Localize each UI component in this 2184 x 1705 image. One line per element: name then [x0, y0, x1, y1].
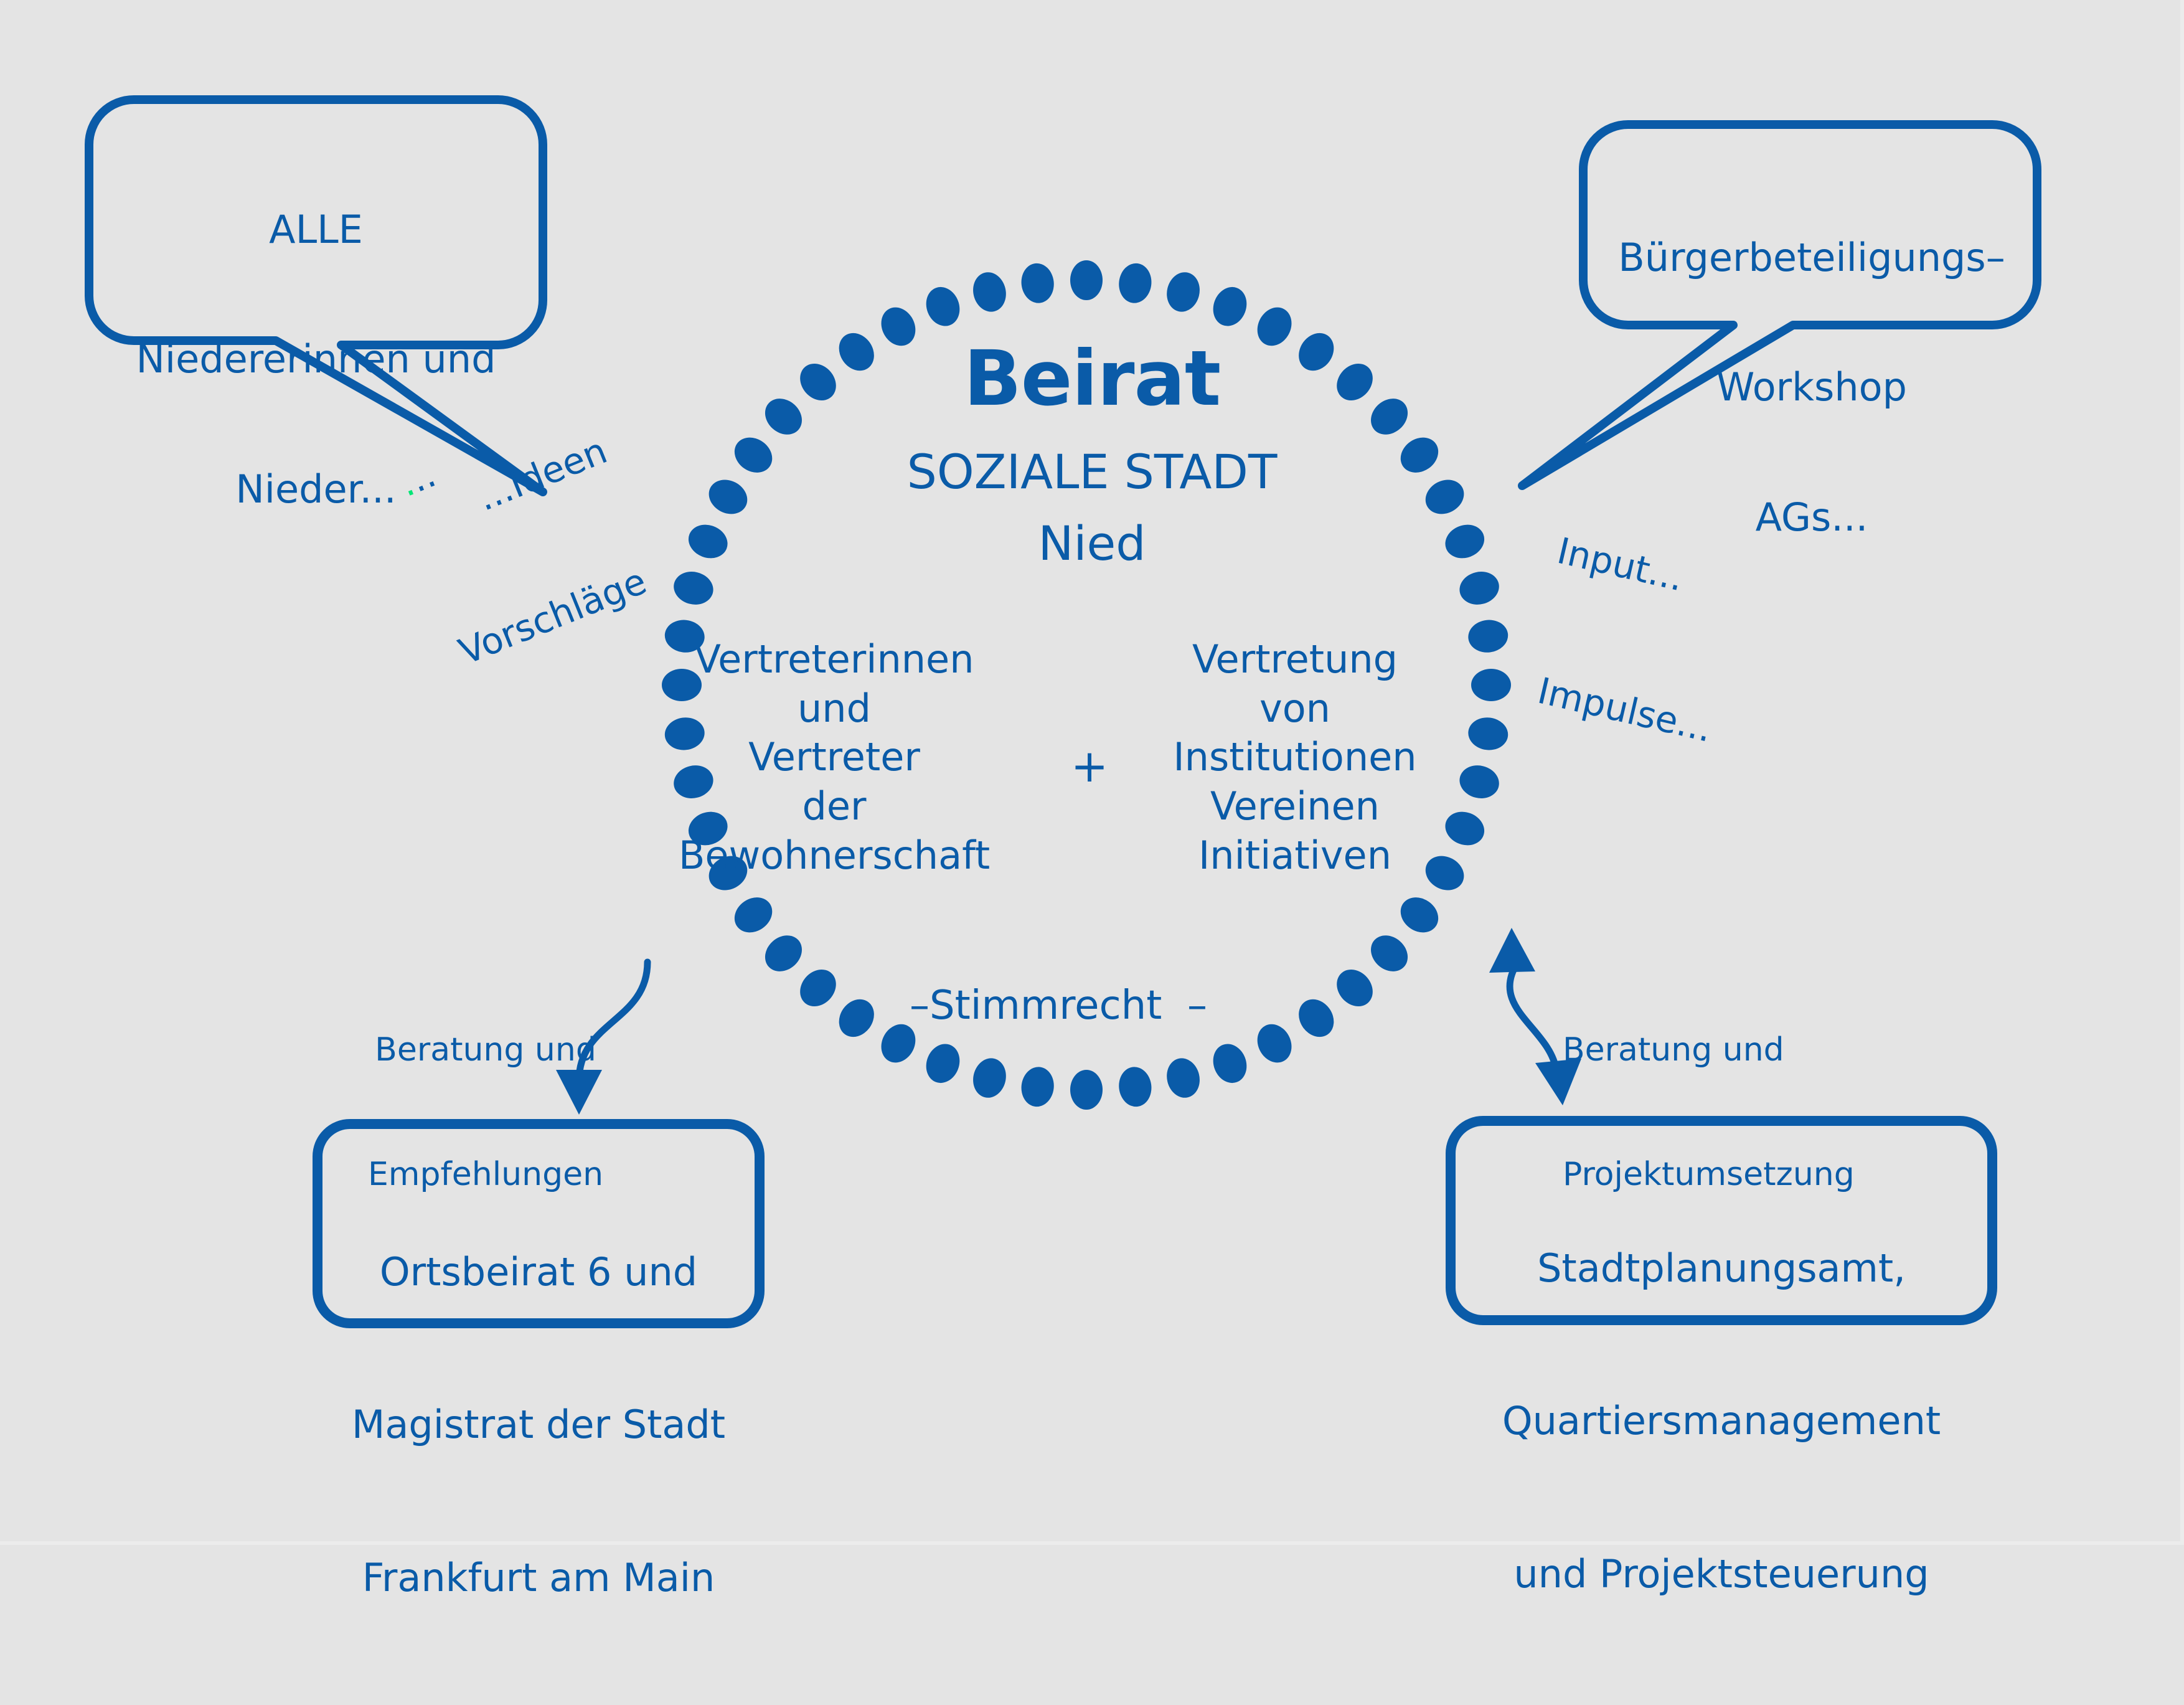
annotation-input: Input... [1553, 527, 1748, 616]
center-subtitle: SOZIALE STADT [781, 445, 1403, 498]
bubble-top-left-line-2: Niedererinnen und [90, 338, 542, 380]
diagram-canvas: ALLE Niedererinnen und Nieder... Bürgerb… [0, 0, 2184, 1545]
annotation-beratung-empfehlungen-line-1: Beratung und [349, 1029, 623, 1071]
box-bottom-right-line-1: Stadtplanungsamt, [1454, 1243, 1989, 1294]
box-bottom-right-line-3: und Projektsteuerung [1454, 1549, 1989, 1600]
bubble-top-right-line-1: Bürgerbeteiligungs– [1584, 236, 2039, 279]
center-location: Nied [781, 517, 1403, 570]
box-bottom-right-text: Stadtplanungsamt, Quartiersmanagement un… [1454, 1141, 1989, 1701]
bubble-top-left-line-1: ALLE [90, 208, 542, 251]
box-bottom-right-line-2: Quartiersmanagement [1454, 1396, 1989, 1447]
box-bottom-left-line-1: Ortsbeirat 6 und [321, 1247, 756, 1298]
center-plus-sign: + [1021, 741, 1158, 791]
annotation-impulse: Impulse... [1521, 664, 1716, 753]
box-bottom-left-line-2: Magistrat der Stadt [321, 1399, 756, 1450]
box-bottom-left-text: Ortsbeirat 6 und Magistrat der Stadt Fra… [321, 1145, 756, 1705]
annotation-vorschlaege: Vorschläge [421, 554, 664, 687]
center-left-column: VertreterinnenundVertreterderBewohnersch… [672, 635, 996, 881]
center-footer-stimmrecht: –Stimmrecht – [872, 984, 1245, 1029]
center-title: Beirat [781, 336, 1403, 422]
center-right-column: VertretungvonInstitutionenVereinenInitia… [1139, 635, 1451, 881]
annotation-beratung-projektumsetzung-line-1: Beratung und [1563, 1029, 1862, 1071]
bubble-top-right-line-2: Workshop [1584, 366, 2039, 409]
box-bottom-left-line-3: Frankfurt am Main [321, 1552, 756, 1603]
